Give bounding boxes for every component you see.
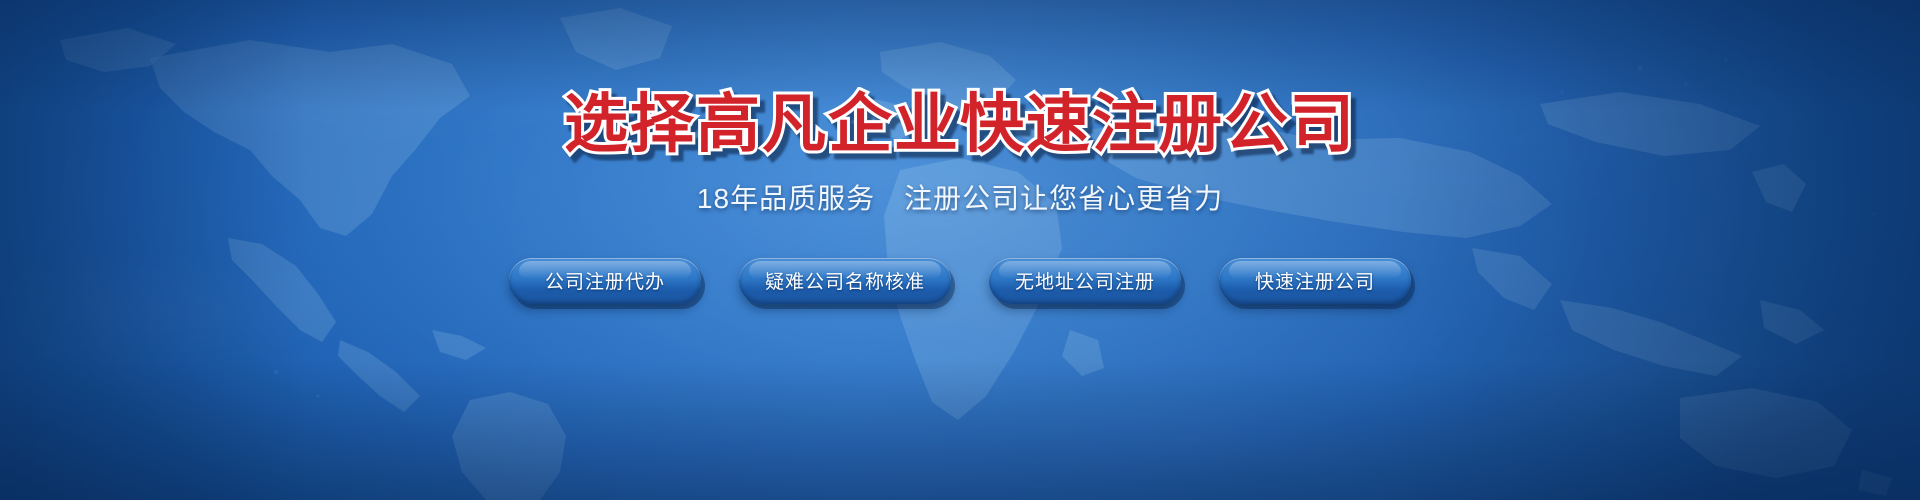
service-pill-fast-registration[interactable]: 快速注册公司 <box>1219 258 1411 304</box>
promo-banner: 选择高凡企业快速注册公司 18年品质服务 注册公司让您省心更省力 公司注册代办 … <box>0 0 1920 500</box>
service-pill-difficult-name-approval[interactable]: 疑难公司名称核准 <box>739 258 951 304</box>
banner-subtitle: 18年品质服务 注册公司让您省心更省力 <box>697 182 1223 216</box>
service-pill-label: 公司注册代办 <box>545 267 665 294</box>
service-pill-label: 无地址公司注册 <box>1015 267 1155 294</box>
service-pill-no-address-registration[interactable]: 无地址公司注册 <box>989 258 1181 304</box>
service-pill-label: 快速注册公司 <box>1255 267 1375 294</box>
service-pill-group: 公司注册代办 疑难公司名称核准 无地址公司注册 快速注册公司 <box>509 258 1411 304</box>
page-title: 选择高凡企业快速注册公司 <box>564 92 1356 156</box>
service-pill-label: 疑难公司名称核准 <box>765 267 925 294</box>
banner-content: 选择高凡企业快速注册公司 18年品质服务 注册公司让您省心更省力 公司注册代办 … <box>0 0 1920 500</box>
service-pill-company-registration-agency[interactable]: 公司注册代办 <box>509 258 701 304</box>
